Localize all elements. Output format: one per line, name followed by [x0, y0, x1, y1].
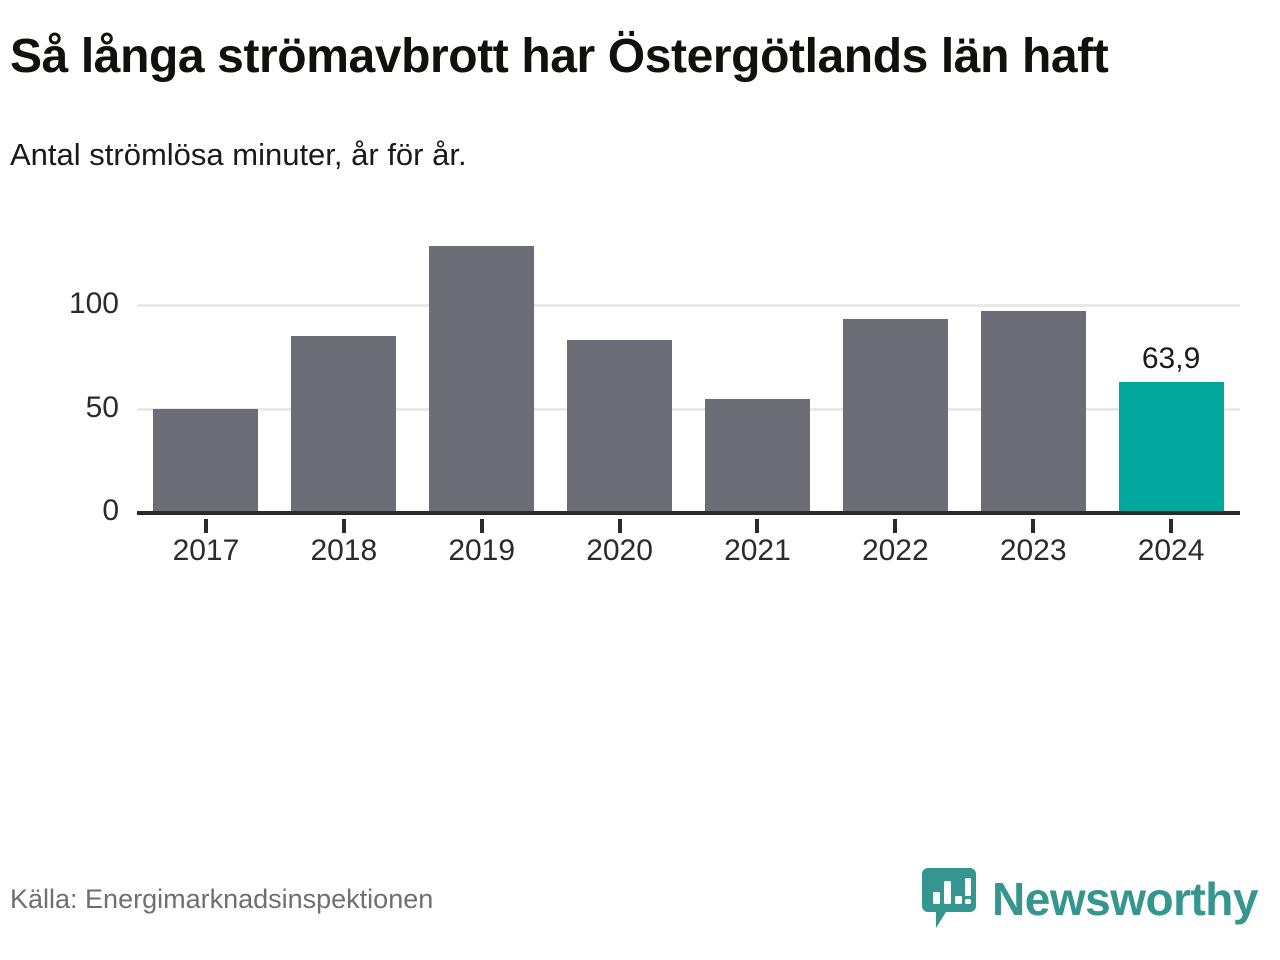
bar-slot-2020 [551, 238, 689, 515]
tick-slot-2022 [826, 519, 964, 533]
bar-slot-2019 [413, 238, 551, 515]
tick-slot-2017 [137, 519, 275, 533]
tick-mark-2018 [342, 519, 346, 533]
chart-subtitle: Antal strömlösa minuter, år för år. [10, 136, 1252, 173]
tick-mark-2022 [893, 519, 897, 533]
bar-2022[interactable] [843, 319, 948, 515]
bar-2019[interactable] [429, 246, 534, 515]
y-axis-label: 0 [102, 496, 119, 526]
chart-footer: Källa: Energimarknadsinspektionen Newswo… [0, 866, 1280, 932]
tick-mark-2023 [1031, 519, 1035, 533]
newsworthy-logo[interactable]: Newsworthy [920, 866, 1258, 932]
x-axis-labels: 20172018201920202021202220232024 [137, 536, 1240, 566]
x-axis-label-2023: 2023 [964, 536, 1102, 566]
bar-2024[interactable]: 63,9 [1119, 382, 1224, 515]
tick-mark-2017 [204, 519, 208, 533]
chart-header: Så långa strömavbrott har Östergötlands … [0, 0, 1280, 173]
bars-group: 63,9 [137, 238, 1240, 515]
x-axis-ticks [137, 519, 1240, 533]
bar-slot-2022 [826, 238, 964, 515]
bar-slot-2023 [964, 238, 1102, 515]
tick-mark-2019 [480, 519, 484, 533]
tick-slot-2021 [689, 519, 827, 533]
x-axis-label-2024: 2024 [1102, 536, 1240, 566]
x-axis-label-2021: 2021 [689, 536, 827, 566]
tick-slot-2024 [1102, 519, 1240, 533]
newsworthy-bubble-barchart-icon [920, 866, 978, 932]
source-note: Källa: Energimarknadsinspektionen [10, 886, 433, 913]
bar-slot-2024: 63,9 [1102, 238, 1240, 515]
bar-2018[interactable] [291, 336, 396, 515]
axis-baseline: 0 [137, 511, 1240, 515]
tick-slot-2020 [551, 519, 689, 533]
x-axis-label-2019: 2019 [413, 536, 551, 566]
chart-container: 050100 63,9 2017201820192020202120222023… [0, 173, 1280, 593]
x-axis-label-2018: 2018 [275, 536, 413, 566]
bar-slot-2018 [275, 238, 413, 515]
tick-slot-2018 [275, 519, 413, 533]
newsworthy-wordmark: Newsworthy [992, 876, 1258, 922]
bar-value-label-2024: 63,9 [1142, 344, 1200, 374]
bar-slot-2021 [689, 238, 827, 515]
y-axis-label: 50 [86, 393, 119, 423]
y-axis-label: 100 [69, 289, 119, 319]
chart-page: Så långa strömavbrott har Östergötlands … [0, 0, 1280, 960]
tick-mark-2021 [755, 519, 759, 533]
page-title: Så långa strömavbrott har Östergötlands … [10, 30, 1250, 84]
bar-slot-2017 [137, 238, 275, 515]
x-axis-label-2022: 2022 [826, 536, 964, 566]
tick-slot-2023 [964, 519, 1102, 533]
tick-mark-2024 [1169, 519, 1173, 533]
tick-slot-2019 [413, 519, 551, 533]
plot-area: 050100 63,9 [137, 238, 1240, 515]
bar-2021[interactable] [705, 399, 810, 515]
tick-mark-2020 [618, 519, 622, 533]
x-axis-label-2020: 2020 [551, 536, 689, 566]
bar-2020[interactable] [567, 340, 672, 515]
bar-2023[interactable] [981, 311, 1086, 515]
x-axis-label-2017: 2017 [137, 536, 275, 566]
bar-2017[interactable] [153, 409, 258, 515]
